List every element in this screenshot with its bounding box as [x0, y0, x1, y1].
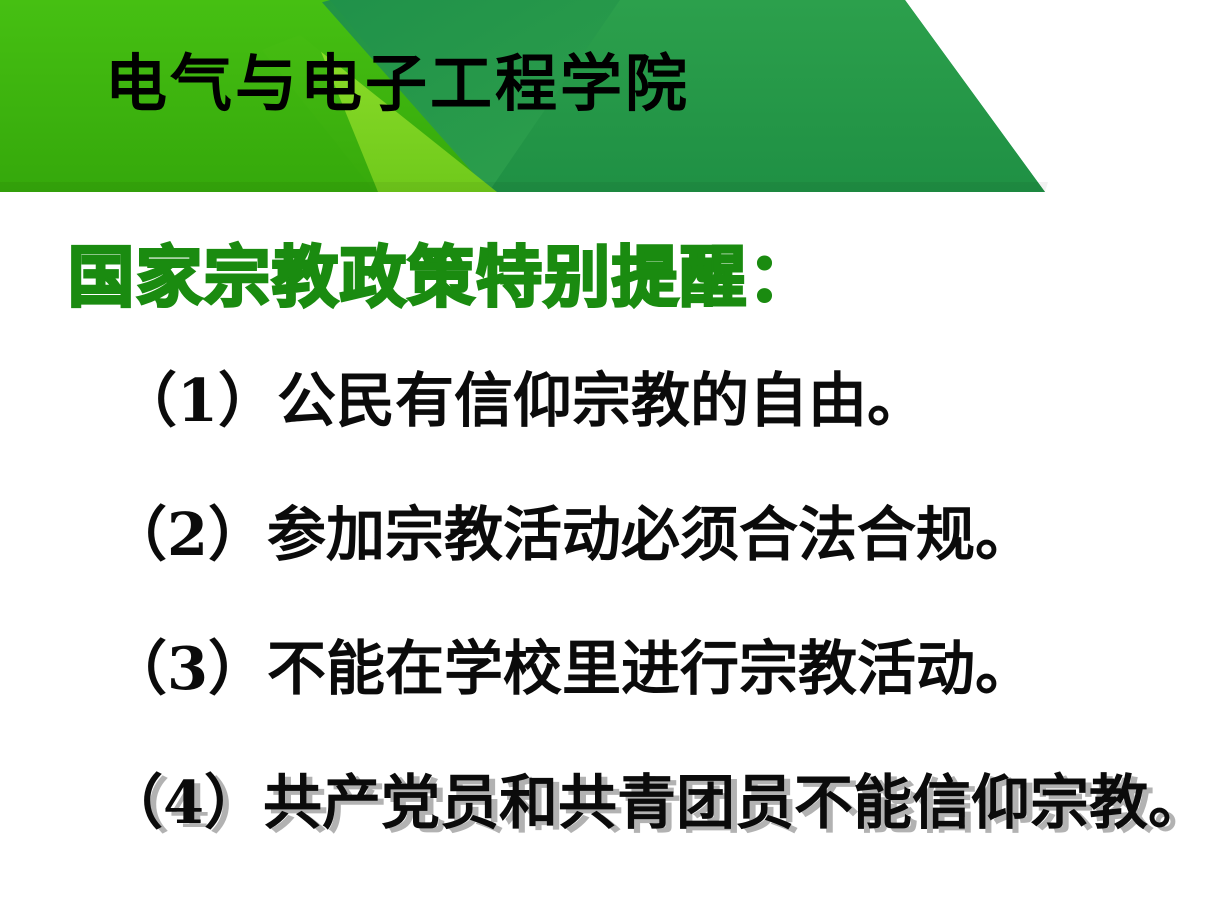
bullet-text-2: （2）参加宗教活动必须合法合规。 — [108, 496, 1034, 574]
bullet-text-3: （3）不能在学校里进行宗教活动。 — [108, 630, 1034, 708]
slide-body: 国家宗教政策特别提醒： （1）公民有信仰宗教的自由。 （2）参加宗教活动必须合法… — [0, 192, 1211, 897]
presentation-slide: 电气与电子工程学院 国家宗教政策特别提醒： （1）公民有信仰宗教的自由。 （2）… — [0, 0, 1211, 897]
bullet-text-4: （4）共产党员和共青团员不能信仰宗教。 — [104, 764, 1207, 842]
bullet-item-3: （3）不能在学校里进行宗教活动。 — [0, 630, 1211, 764]
organization-title: 电气与电子工程学院 — [105, 44, 805, 124]
banner-bottom-shade — [0, 182, 1048, 192]
bullet-item-1: （1）公民有信仰宗教的自由。 — [0, 362, 1211, 496]
bullet-list: （1）公民有信仰宗教的自由。 （2）参加宗教活动必须合法合规。 （3）不能在学校… — [0, 362, 1211, 897]
header-banner: 电气与电子工程学院 — [0, 0, 1211, 192]
bullet-item-2: （2）参加宗教活动必须合法合规。 — [0, 496, 1211, 630]
slide-heading: 国家宗教政策特别提醒： — [68, 224, 816, 320]
bullet-item-4: （4）共产党员和共青团员不能信仰宗教。 （4）共产党员和共青团员不能信仰宗教。 — [0, 764, 1211, 897]
bullet-text-1: （1）公民有信仰宗教的自由。 — [118, 362, 926, 440]
